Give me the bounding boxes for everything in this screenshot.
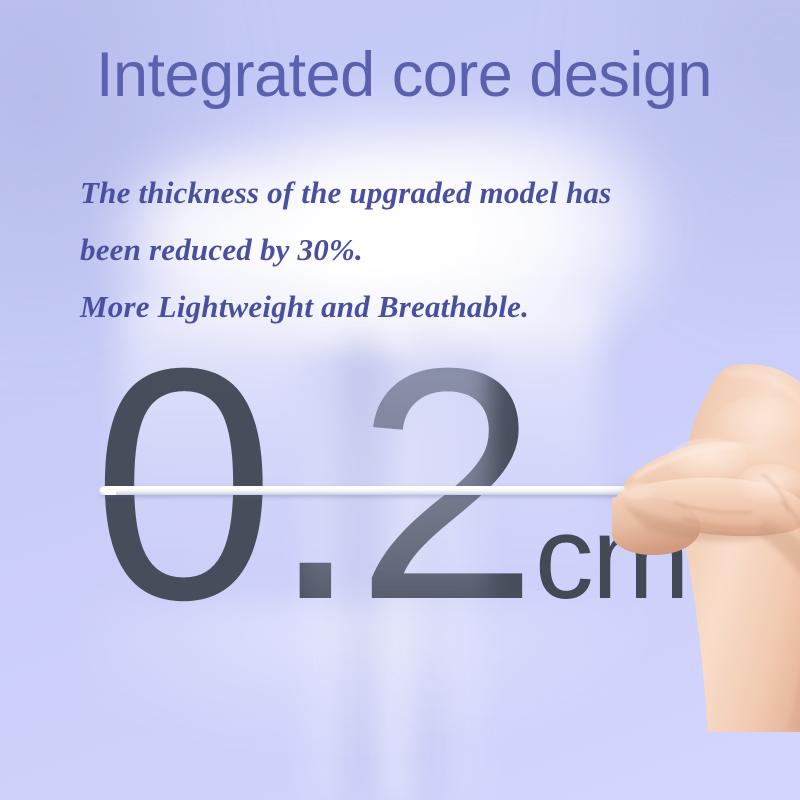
thin-product-strip-icon bbox=[100, 486, 652, 495]
page-title: Integrated core design bbox=[96, 44, 712, 107]
product-feature-poster: Integrated core design The thickness of … bbox=[0, 0, 800, 800]
product-strip-tip-icon bbox=[98, 487, 116, 495]
measurement-display: 0.2 cm bbox=[92, 352, 688, 616]
measurement-unit: cm bbox=[535, 511, 688, 605]
subtitle-line-1: The thickness of the upgraded model has bbox=[80, 164, 760, 221]
measurement-value: 0.2 bbox=[92, 352, 533, 616]
subtitle-line-2: been reduced by 30%. bbox=[80, 221, 760, 278]
